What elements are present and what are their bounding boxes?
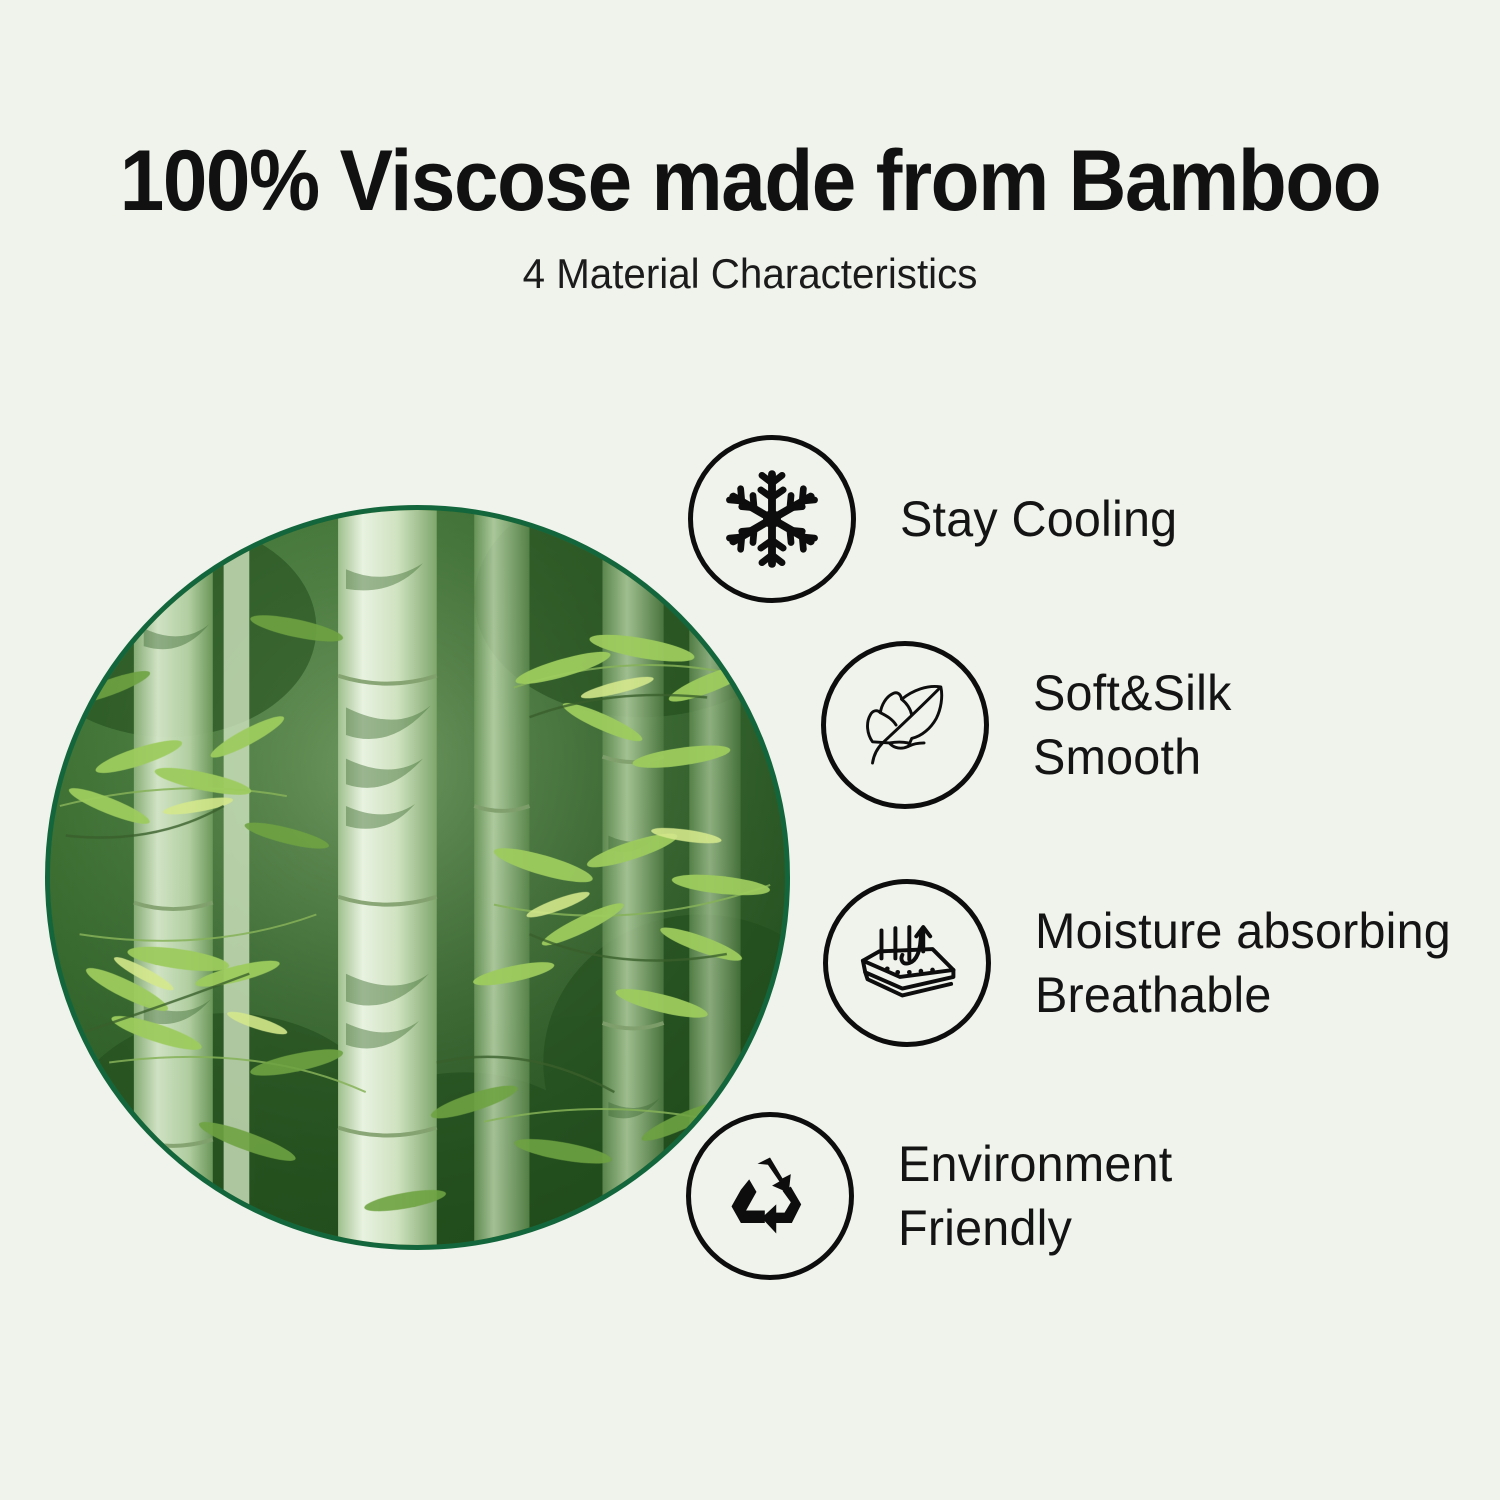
feature-label-environment-friendly: Environment Friendly <box>898 1132 1172 1260</box>
feather-icon-circle <box>821 641 989 809</box>
recycle-icon-circle <box>686 1112 854 1280</box>
recycle-icon <box>718 1144 822 1248</box>
snowflake-icon <box>716 463 828 575</box>
feature-item-stay-cooling: Stay Cooling <box>688 435 1186 603</box>
moisture-breathable-icon-circle <box>823 879 991 1047</box>
feature-label-moisture-breathable: Moisture absorbing Breathable <box>1035 899 1451 1027</box>
feature-item-environment-friendly: Environment Friendly <box>686 1112 1181 1280</box>
page-title: 100% Viscose made from Bamboo <box>53 0 1448 224</box>
page-subtitle: 4 Material Characteristics <box>30 224 1470 298</box>
feather-icon <box>849 669 961 781</box>
feature-label-stay-cooling: Stay Cooling <box>900 487 1177 551</box>
bamboo-forest-photo <box>45 505 790 1250</box>
snowflake-icon-circle <box>688 435 856 603</box>
feature-item-moisture-breathable: Moisture absorbing Breathable <box>823 879 1464 1047</box>
header-block: 100% Viscose made from Bamboo 4 Material… <box>0 0 1500 298</box>
feature-label-soft-silk-smooth: Soft&Silk Smooth <box>1033 661 1232 789</box>
bamboo-illustration <box>50 510 785 1245</box>
moisture-breathable-icon <box>849 905 965 1021</box>
feature-item-soft-silk-smooth: Soft&Silk Smooth <box>821 641 1238 809</box>
